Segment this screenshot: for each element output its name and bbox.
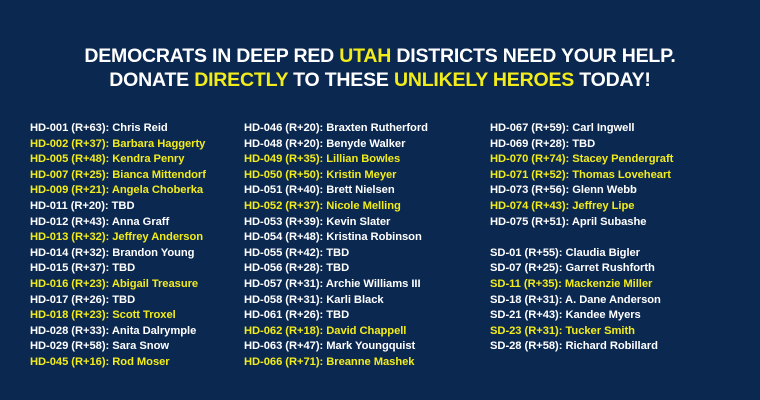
list-item[interactable]: SD-11 (R+35): Mackenzie Miller: [490, 277, 760, 293]
list-item[interactable]: HD-066 (R+71): Breanne Mashek: [244, 355, 490, 371]
candidate-column-2: HD-046 (R+20): Braxten RutherfordHD-048 …: [242, 121, 490, 371]
headline-line-1-run-2: DISTRICTS NEED YOUR HELP.: [391, 45, 675, 67]
list-item[interactable]: SD-07 (R+25): Garret Rushforth: [490, 261, 760, 277]
candidate-column-3: HD-067 (R+59): Carl IngwellHD-069 (R+28)…: [490, 121, 760, 355]
list-item[interactable]: HD-045 (R+16): Rod Moser: [30, 355, 242, 371]
list-item[interactable]: HD-048 (R+20): Benyde Walker: [244, 137, 490, 153]
list-item[interactable]: HD-002 (R+37): Barbara Haggerty: [30, 137, 242, 153]
page-title: DEMOCRATS IN DEEP RED UTAH DISTRICTS NEE…: [0, 44, 760, 92]
list-item[interactable]: HD-058 (R+31): Karli Black: [244, 293, 490, 309]
list-item[interactable]: SD-21 (R+43): Kandee Myers: [490, 308, 760, 324]
candidate-columns: HD-001 (R+63): Chris ReidHD-002 (R+37): …: [0, 121, 760, 371]
headline-line-1-run-1: UTAH: [339, 45, 391, 67]
list-item[interactable]: HD-073 (R+56): Glenn Webb: [490, 183, 760, 199]
list-item[interactable]: HD-055 (R+42): TBD: [244, 246, 490, 262]
list-item[interactable]: HD-028 (R+33): Anita Dalrymple: [30, 324, 242, 340]
list-item[interactable]: HD-052 (R+37): Nicole Melling: [244, 199, 490, 215]
list-item[interactable]: HD-049 (R+35): Lillian Bowles: [244, 152, 490, 168]
list-item[interactable]: SD-28 (R+58): Richard Robillard: [490, 339, 760, 355]
list-item[interactable]: HD-071 (R+52): Thomas Loveheart: [490, 168, 760, 184]
list-item[interactable]: HD-074 (R+43): Jeffrey Lipe: [490, 199, 760, 215]
headline-line-2-run-1: DIRECTLY: [194, 69, 288, 91]
list-item[interactable]: HD-012 (R+43): Anna Graff: [30, 215, 242, 231]
list-item[interactable]: SD-18 (R+31): A. Dane Anderson: [490, 293, 760, 309]
list-item[interactable]: SD-23 (R+31): Tucker Smith: [490, 324, 760, 340]
list-item[interactable]: HD-053 (R+39): Kevin Slater: [244, 215, 490, 231]
list-item[interactable]: HD-001 (R+63): Chris Reid: [30, 121, 242, 137]
list-item[interactable]: HD-057 (R+31): Archie Williams III: [244, 277, 490, 293]
list-item[interactable]: HD-018 (R+23): Scott Troxel: [30, 308, 242, 324]
list-item[interactable]: HD-017 (R+26): TBD: [30, 293, 242, 309]
headline-line-2-run-2: TO THESE: [288, 69, 394, 91]
headline-line-1-run-0: DEMOCRATS IN DEEP RED: [84, 45, 339, 67]
list-item[interactable]: HD-069 (R+28): TBD: [490, 137, 760, 153]
list-item[interactable]: HD-005 (R+48): Kendra Penry: [30, 152, 242, 168]
list-item[interactable]: HD-016 (R+23): Abigail Treasure: [30, 277, 242, 293]
list-item[interactable]: HD-061 (R+26): TBD: [244, 308, 490, 324]
list-item[interactable]: HD-062 (R+18): David Chappell: [244, 324, 490, 340]
list-item[interactable]: HD-046 (R+20): Braxten Rutherford: [244, 121, 490, 137]
list-item[interactable]: HD-007 (R+25): Bianca Mittendorf: [30, 168, 242, 184]
headline-line-2: DONATE DIRECTLY TO THESE UNLIKELY HEROES…: [0, 68, 760, 92]
candidate-column-1: HD-001 (R+63): Chris ReidHD-002 (R+37): …: [0, 121, 242, 371]
headline-line-2-run-4: TODAY!: [574, 69, 651, 91]
list-item[interactable]: HD-011 (R+20): TBD: [30, 199, 242, 215]
list-item[interactable]: HD-054 (R+48): Kristina Robinson: [244, 230, 490, 246]
list-item[interactable]: SD-01 (R+55): Claudia Bigler: [490, 246, 760, 262]
headline-line-2-run-0: DONATE: [109, 69, 194, 91]
list-item[interactable]: HD-056 (R+28): TBD: [244, 261, 490, 277]
headline-line-2-run-3: UNLIKELY HEROES: [394, 69, 574, 91]
list-item[interactable]: HD-075 (R+51): April Subashe: [490, 215, 760, 231]
list-item[interactable]: HD-014 (R+32): Brandon Young: [30, 246, 242, 262]
list-item[interactable]: HD-009 (R+21): Angela Choberka: [30, 183, 242, 199]
list-item[interactable]: HD-015 (R+37): TBD: [30, 261, 242, 277]
list-item[interactable]: HD-029 (R+58): Sara Snow: [30, 339, 242, 355]
list-item[interactable]: HD-067 (R+59): Carl Ingwell: [490, 121, 760, 137]
list-item-spacer: [490, 230, 760, 246]
poster-canvas: DEMOCRATS IN DEEP RED UTAH DISTRICTS NEE…: [0, 0, 760, 400]
headline-line-1: DEMOCRATS IN DEEP RED UTAH DISTRICTS NEE…: [0, 44, 760, 68]
list-item[interactable]: HD-070 (R+74): Stacey Pendergraft: [490, 152, 760, 168]
list-item[interactable]: HD-050 (R+50): Kristin Meyer: [244, 168, 490, 184]
list-item[interactable]: HD-051 (R+40): Brett Nielsen: [244, 183, 490, 199]
list-item[interactable]: HD-063 (R+47): Mark Youngquist: [244, 339, 490, 355]
list-item[interactable]: HD-013 (R+32): Jeffrey Anderson: [30, 230, 242, 246]
